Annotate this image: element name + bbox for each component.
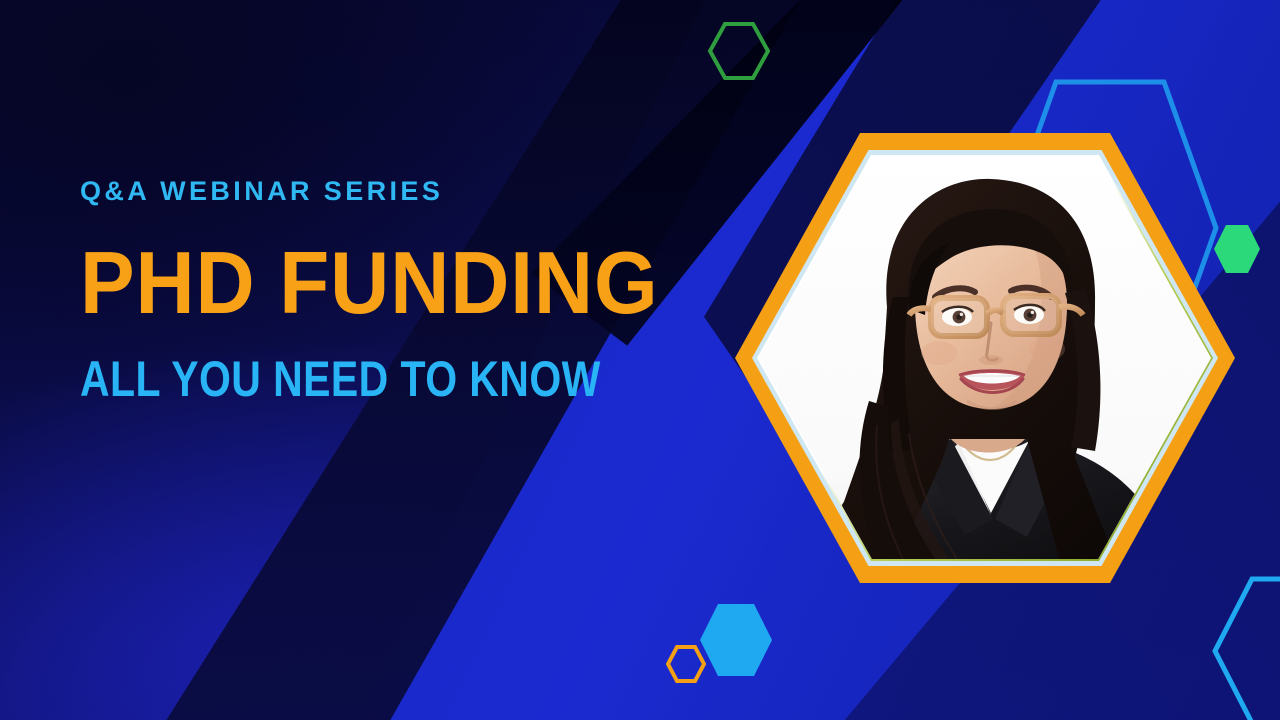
page-subtitle: ALL YOU NEED TO KNOW (80, 354, 572, 404)
title-text-block: Q&A WEBINAR SERIES PHD FUNDING ALL YOU N… (80, 178, 680, 404)
hexagon-outline-orange-small-icon (666, 645, 706, 683)
series-eyebrow: Q&A WEBINAR SERIES (80, 178, 680, 205)
hexagon-outline-cyan-corner-icon (1212, 576, 1280, 720)
speaker-portrait (735, 133, 1235, 583)
hexagon-outline-green-top-icon (708, 22, 770, 80)
webinar-title-slide: Q&A WEBINAR SERIES PHD FUNDING ALL YOU N… (0, 0, 1280, 720)
page-title: PHD FUNDING (80, 243, 638, 324)
hexagon-solid-cyan-bottom-icon (700, 604, 772, 676)
